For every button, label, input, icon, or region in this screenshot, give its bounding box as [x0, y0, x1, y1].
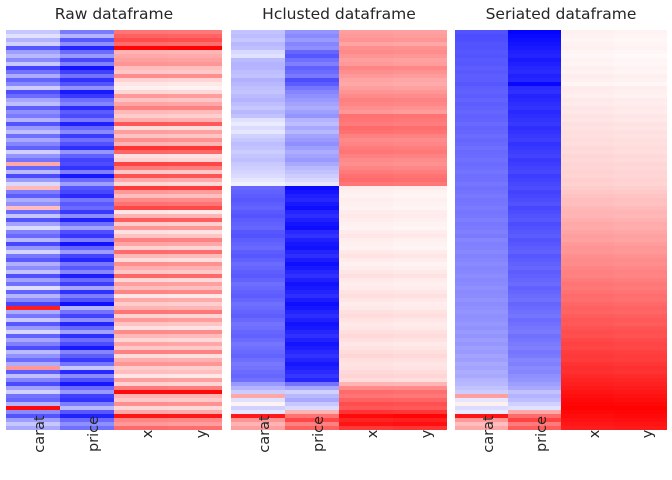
xticks-raw: caratpricexy: [6, 430, 222, 480]
xtick-price: price: [60, 430, 114, 480]
xtick-carat: carat: [231, 430, 285, 480]
xtick-label: y: [420, 430, 434, 439]
xticks-hclusted: caratpricexy: [231, 430, 447, 480]
panel-title-hclusted: Hclusted dataframe: [231, 4, 447, 24]
xtick-carat: carat: [6, 430, 60, 480]
panel-hclusted: Hclusted dataframe caratpricexy: [231, 0, 447, 480]
xtick-price: price: [285, 430, 339, 480]
xticks-seriated: caratpricexy: [455, 430, 667, 480]
heatmap-seriated: [455, 30, 667, 430]
xtick-price: price: [508, 430, 561, 480]
xtick-label: y: [195, 430, 209, 439]
panel-title-raw: Raw dataframe: [6, 4, 222, 24]
xtick-label: x: [141, 430, 155, 439]
xtick-x: x: [114, 430, 168, 480]
xtick-label: carat: [258, 415, 272, 452]
xtick-label: price: [87, 416, 101, 452]
xtick-y: y: [393, 430, 447, 480]
xtick-x: x: [561, 430, 614, 480]
xtick-label: price: [312, 416, 326, 452]
xtick-label: y: [641, 430, 655, 439]
xtick-y: y: [168, 430, 222, 480]
panel-seriated: Seriated dataframe caratpricexy: [455, 0, 667, 480]
xtick-y: y: [614, 430, 667, 480]
xtick-label: x: [366, 430, 380, 439]
xtick-label: carat: [33, 415, 47, 452]
panel-raw: Raw dataframe caratpricexy: [6, 0, 222, 480]
heatmap-figure: Raw dataframe caratpricexy Hclusted data…: [0, 0, 672, 480]
xtick-label: x: [588, 430, 602, 439]
xtick-label: carat: [482, 415, 496, 452]
heatmap-hclusted: [231, 30, 447, 430]
panel-title-seriated: Seriated dataframe: [455, 4, 667, 24]
xtick-label: price: [535, 416, 549, 452]
xtick-carat: carat: [455, 430, 508, 480]
heatmap-raw: [6, 30, 222, 430]
xtick-x: x: [339, 430, 393, 480]
